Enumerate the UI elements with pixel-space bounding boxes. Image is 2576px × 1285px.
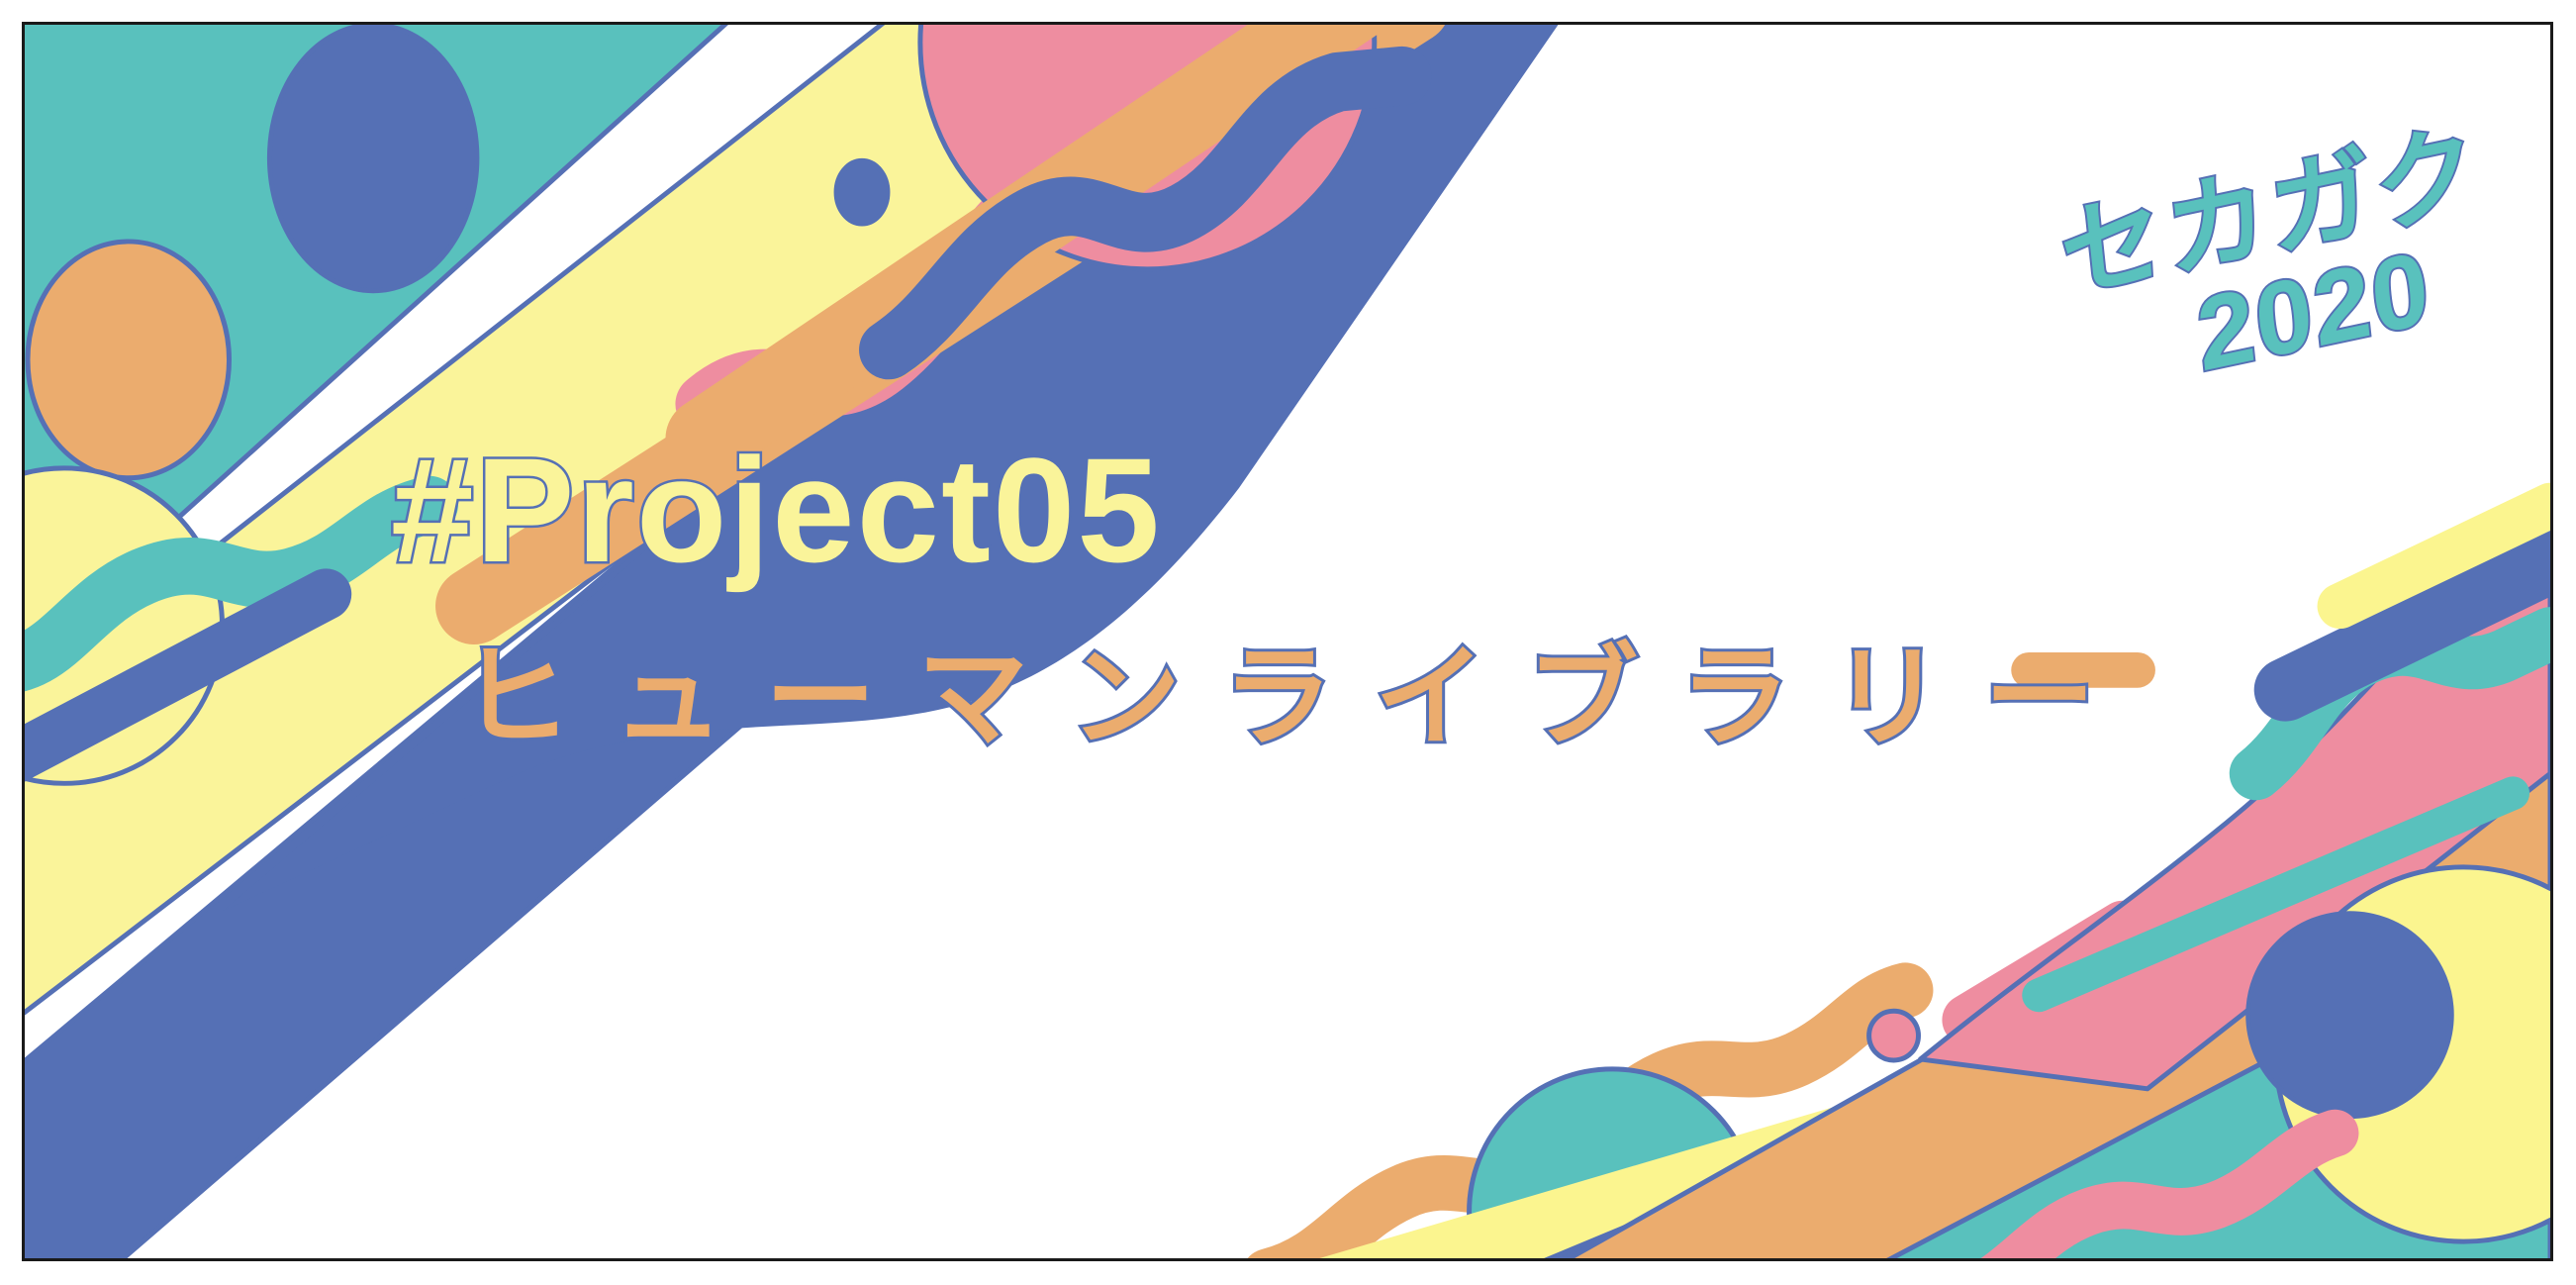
blue-dot xyxy=(836,160,888,224)
blue-ellipse-top xyxy=(269,25,477,291)
banner-frame: #Project05 ヒューマンライブラリー セカガク 2020 xyxy=(22,22,2553,1261)
blue-circle-bottomright xyxy=(2248,914,2452,1117)
banner-canvas: #Project05 ヒューマンライブラリー セカガク 2020 xyxy=(0,0,2576,1285)
pink-dot-bottom xyxy=(1869,1011,1919,1060)
orange-ellipse xyxy=(28,242,230,478)
decorative-artwork xyxy=(25,25,2550,1258)
